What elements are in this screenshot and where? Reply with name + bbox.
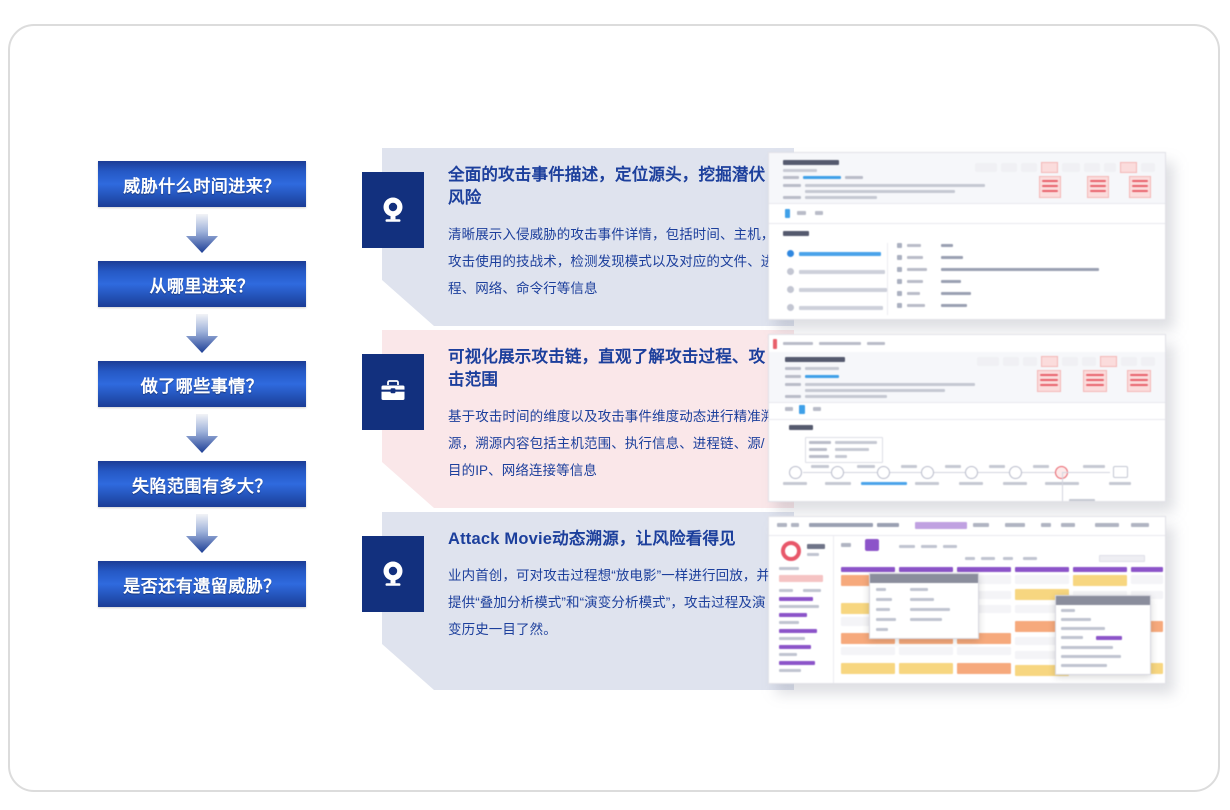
flow-step-label: 失陷范围有多大？ [132,472,272,497]
thumbnail-image [768,334,1166,502]
question-flow-column: 威胁什么时间进来？ 从哪里进来？ [98,161,306,607]
flow-step-scope[interactable]: 失陷范围有多大？ [98,461,306,507]
feature-text-block: 全面的攻击事件描述，定位源头，挖掘潜伏风险 清晰展示入侵威胁的攻击事件详情，包括… [448,164,778,302]
feature-title: 可视化展示攻击链，直观了解攻击过程、攻击范围 [448,346,778,392]
flow-step-label: 从哪里进来？ [150,272,255,297]
flow-step-where[interactable]: 从哪里进来？ [98,261,306,307]
feature-text-block: 可视化展示攻击链，直观了解攻击过程、攻击范围 基于攻击时间的维度以及攻击事件维度… [448,346,778,484]
slide-frame: 威胁什么时间进来？ 从哪里进来？ [8,24,1220,792]
flow-step-when[interactable]: 威胁什么时间进来？ [98,161,306,207]
thumbnail-image [768,152,1166,320]
feature-body: 清晰展示入侵威胁的攻击事件详情，包括时间、主机，攻击使用的技战术，检测发现模式以… [448,221,778,302]
flow-arrow-4 [98,507,306,561]
flow-arrow-3 [98,407,306,461]
attack-chain-graph-screenshot[interactable] [768,334,1166,502]
flow-step-what[interactable]: 做了哪些事情？ [98,361,306,407]
flow-step-label: 是否还有遗留威胁？ [123,572,281,597]
flow-arrow-1 [98,207,306,261]
feature-text-block: Attack Movie动态溯源，让风险看得见 业内首创，可对攻击过程想“放电影… [448,528,778,643]
feature-row-attack-event: 全面的攻击事件描述，定位源头，挖掘潜伏风险 清晰展示入侵威胁的攻击事件详情，包括… [350,148,1180,326]
flow-step-residual[interactable]: 是否还有遗留威胁？ [98,561,306,607]
thumbnail-image [768,516,1166,684]
attack-movie-matrix-screenshot[interactable] [768,516,1166,684]
feature-row-attack-chain: 可视化展示攻击链，直观了解攻击过程、攻击范围 基于攻击时间的维度以及攻击事件维度… [350,330,1180,508]
attack-event-detail-screenshot[interactable] [768,152,1166,320]
flow-step-label: 威胁什么时间进来？ [123,172,281,197]
flow-step-label: 做了哪些事情？ [141,372,264,397]
flow-arrow-2 [98,307,306,361]
feature-title: Attack Movie动态溯源，让风险看得见 [448,528,778,551]
feature-row-attack-movie: Attack Movie动态溯源，让风险看得见 业内首创，可对攻击过程想“放电影… [350,512,1180,690]
toolbox-icon [362,354,424,430]
feature-title: 全面的攻击事件描述，定位源头，挖掘潜伏风险 [448,164,778,210]
webcam-icon [362,172,424,248]
feature-body: 业内首创，可对攻击过程想“放电影”一样进行回放，并提供“叠加分析模式”和“演变分… [448,562,778,643]
webcam-icon [362,536,424,612]
feature-body: 基于攻击时间的维度以及攻击事件维度动态进行精准溯源，溯源内容包括主机范围、执行信… [448,403,778,484]
